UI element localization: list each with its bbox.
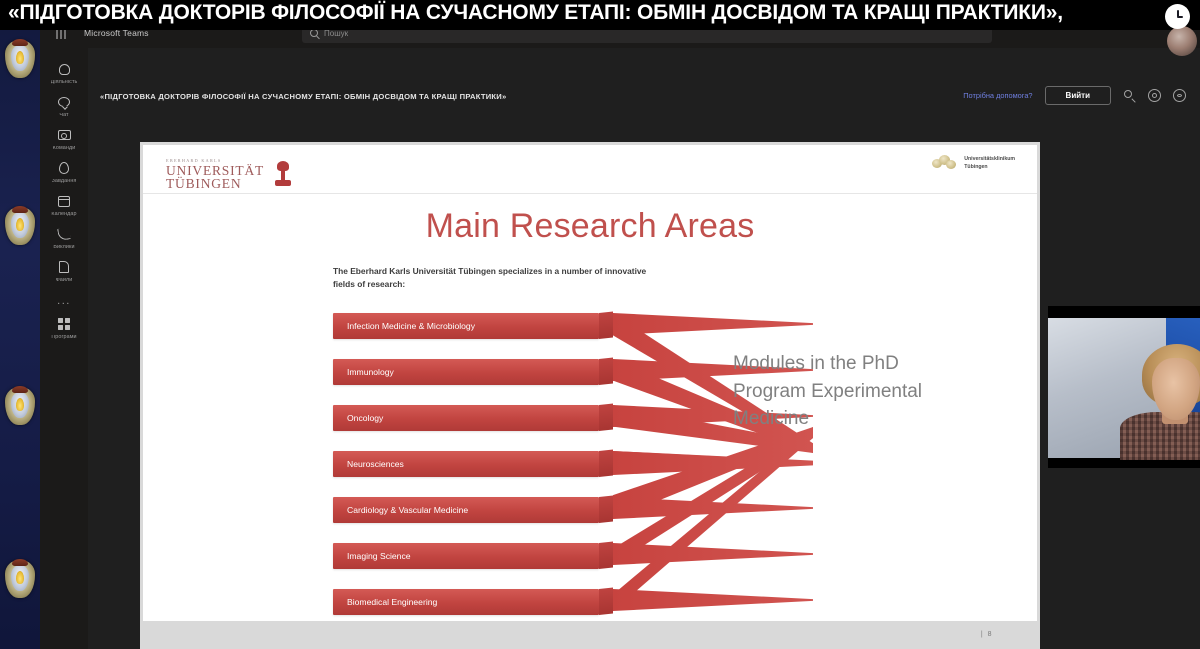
research-area-bar: Oncology: [333, 405, 599, 431]
sidebar-item-tasks[interactable]: Завдання: [40, 155, 88, 188]
universitaetsklinikum-logo: Universitätsklinikum Tübingen: [932, 155, 1015, 173]
slide-footer: | 8: [143, 621, 1037, 647]
research-area-label: Immunology: [333, 367, 394, 377]
slide-title: Main Research Areas: [143, 207, 1037, 246]
sidebar-item-label: Календар: [51, 212, 76, 218]
university-crest-icon: [3, 205, 37, 247]
ukt-cloud-mark-icon: [932, 155, 958, 173]
search-icon: [310, 29, 318, 37]
sidebar-item-label: Чат: [59, 113, 68, 119]
research-area-bar: Biomedical Engineering: [333, 589, 599, 615]
sidebar-item-calendar[interactable]: Календар: [40, 188, 88, 221]
meeting-header: «ПІДГОТОВКА ДОКТОРІВ ФІЛОСОФІЇ НА СУЧАСН…: [88, 78, 1200, 114]
meeting-header-actions: Потрібна допомога? Вийти: [963, 86, 1186, 105]
bell-icon: [56, 61, 73, 78]
eye-view-icon[interactable]: [1173, 89, 1186, 102]
call-icon: [56, 226, 73, 243]
file-icon: [56, 259, 73, 276]
ukt-line1: Universitätsklinikum: [964, 156, 1015, 164]
leave-button[interactable]: Вийти: [1045, 86, 1111, 105]
calendar-icon: [56, 193, 73, 210]
research-area-bar: Imaging Science: [333, 543, 599, 569]
research-area-label: Cardiology & Vascular Medicine: [333, 505, 468, 515]
funnel-wedge: [613, 543, 813, 565]
logo-line-tuebingen: TÜBINGEN: [166, 177, 264, 191]
apps-grid-icon: [56, 316, 73, 333]
sidebar-item-teams[interactable]: Команди: [40, 122, 88, 155]
need-help-link[interactable]: Потрібна допомога?: [963, 91, 1032, 100]
shared-content-frame[interactable]: EBERHARD KARLS UNIVERSITÄT TÜBINGEN Univ…: [140, 142, 1040, 649]
clock-icon: [1165, 4, 1190, 29]
participant-avatar: [1167, 26, 1197, 56]
university-crest-icon: [3, 558, 37, 600]
broadcast-title-band: «ПІДГОТОВКА ДОКТОРІВ ФІЛОСОФІЇ НА СУЧАСН…: [0, 0, 1200, 30]
gear-icon[interactable]: [1148, 89, 1161, 102]
research-area-label: Oncology: [333, 413, 383, 423]
sidebar-item-calls[interactable]: Виклики: [40, 221, 88, 254]
participant-video-tile[interactable]: [1048, 306, 1200, 468]
university-tuebingen-logo: EBERHARD KARLS UNIVERSITÄT TÜBINGEN: [166, 159, 292, 190]
video-person-body: [1120, 412, 1200, 460]
sidebar-item-label: Завдання: [52, 179, 77, 185]
sidebar-item-label: Виклики: [53, 245, 74, 251]
research-area-label: Infection Medicine & Microbiology: [333, 321, 475, 331]
sidebar-item-chat[interactable]: Чат: [40, 89, 88, 122]
research-area-bar: Immunology: [333, 359, 599, 385]
research-area-label: Biomedical Engineering: [333, 597, 437, 607]
slide-divider: [143, 193, 1037, 194]
teams-icon: [56, 127, 73, 144]
research-area-label: Imaging Science: [333, 551, 411, 561]
research-area-label: Neurosciences: [333, 459, 404, 469]
meeting-title: «ПІДГОТОВКА ДОКТОРІВ ФІЛОСОФІЇ НА СУЧАСН…: [100, 92, 506, 101]
research-area-bar: Neurosciences: [333, 451, 599, 477]
sidebar-item-label: Програми: [51, 335, 76, 341]
ukt-line2: Tübingen: [964, 164, 1015, 172]
sidebar-item-apps[interactable]: Програми: [40, 311, 88, 344]
presentation-slide: EBERHARD KARLS UNIVERSITÄT TÜBINGEN Univ…: [143, 145, 1037, 647]
chat-icon: [56, 94, 73, 111]
funnel-wedge: [613, 589, 813, 611]
broadcast-side-strip: [0, 30, 40, 649]
research-areas-funnel: Infection Medicine & Microbiology Immuno…: [333, 303, 743, 621]
zoom-icon[interactable]: [1123, 89, 1136, 102]
slide-page-number: | 8: [981, 631, 993, 638]
tuebingen-emblem-icon: [274, 161, 292, 189]
research-area-bar: Cardiology & Vascular Medicine: [333, 497, 599, 523]
sidebar-item-label: Файли: [56, 278, 73, 284]
more-apps-ellipsis-icon[interactable]: ...: [57, 287, 71, 311]
slide-subtitle: The Eberhard Karls Universität Tübingen …: [333, 265, 663, 291]
teams-left-rail: Діяльність Чат Команди Завдання Календар…: [40, 48, 88, 649]
task-icon: [56, 160, 73, 177]
teams-window: Microsoft Teams Пошук Діяльність Чат Ком…: [40, 18, 1200, 649]
broadcast-title: «ПІДГОТОВКА ДОКТОРІВ ФІЛОСОФІЇ НА СУЧАСН…: [8, 1, 1063, 25]
sidebar-item-activity[interactable]: Діяльність: [40, 56, 88, 89]
meeting-stage: «ПІДГОТОВКА ДОКТОРІВ ФІЛОСОФІЇ НА СУЧАСН…: [88, 48, 1200, 649]
sidebar-item-label: Команди: [53, 146, 76, 152]
university-crest-icon: [3, 38, 37, 80]
screen-root: Microsoft Teams Пошук Діяльність Чат Ком…: [0, 0, 1200, 649]
research-area-bar: Infection Medicine & Microbiology: [333, 313, 599, 339]
university-crest-icon: [3, 385, 37, 427]
sidebar-item-files[interactable]: Файли: [40, 254, 88, 287]
funnel-wedge: [613, 313, 813, 335]
modules-annotation: Modules in the PhD Program Experimental …: [733, 350, 933, 433]
sidebar-item-label: Діяльність: [51, 80, 78, 86]
